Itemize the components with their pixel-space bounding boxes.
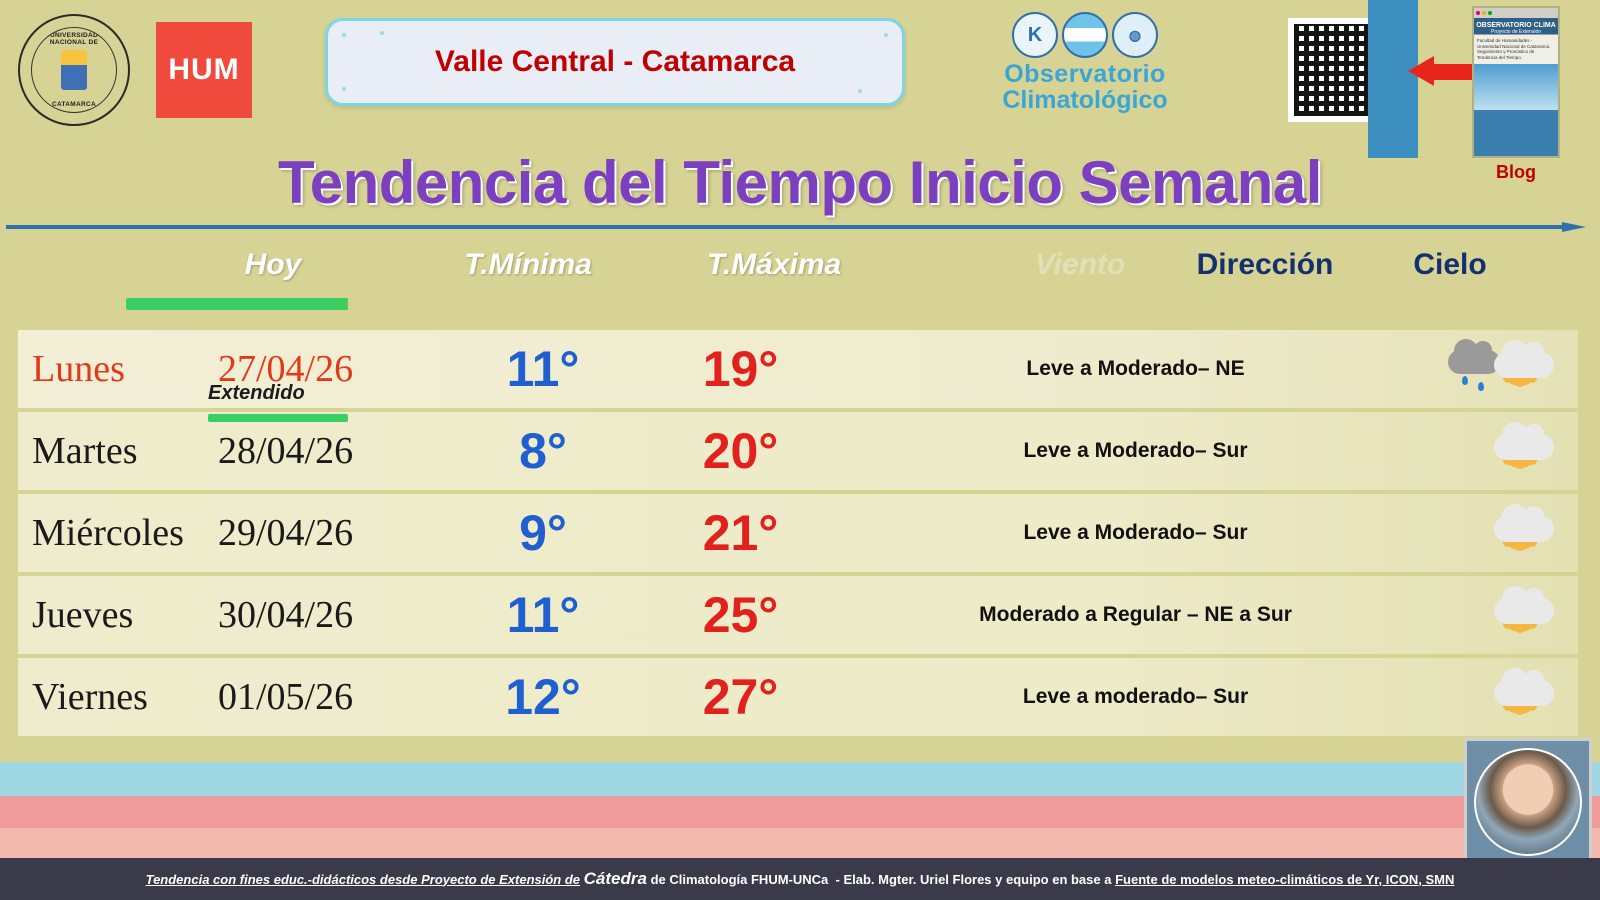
row-wind: Leve a Moderado– Sur: [843, 521, 1428, 545]
table-row: Jueves 30/04/26 11° 25° Moderado a Regul…: [18, 576, 1578, 654]
column-header-tmin: T.Mínima: [438, 248, 618, 282]
unca-logo-top-text: UNIVERSIDAD NACIONAL DE: [32, 32, 116, 46]
table-row: Viernes 01/05/26 12° 27° Leve a moderado…: [18, 658, 1578, 736]
footer-part4: - Elab. Mgter. Uriel Flores y equipo en …: [836, 872, 1112, 887]
column-header-cielo: Cielo: [1380, 248, 1520, 282]
footer-part1: Tendencia con fines educ.-didácticos des…: [146, 872, 580, 887]
row-tmin: 9°: [448, 504, 638, 562]
cloud-icon: [1494, 680, 1554, 706]
row-wind: Moderado a Regular – NE a Sur: [843, 603, 1428, 627]
rain-cloud-and-sun-behind-cloud-icon: [1448, 338, 1558, 400]
row-sky-cell: [1428, 412, 1578, 490]
rain-drop-icon: [1478, 382, 1484, 391]
map-icon: ◍: [1112, 12, 1158, 58]
extendido-label: Extendido: [208, 382, 305, 405]
row-sky-cell: [1428, 494, 1578, 572]
row-day-cell: Miércoles 29/04/26: [18, 511, 448, 555]
rain-cloud-icon: [1448, 350, 1500, 374]
region-title-text: Valle Central - Catamarca: [435, 45, 795, 79]
row-day-cell: Martes 28/04/26: [18, 429, 448, 473]
row-tmax: 25°: [638, 586, 843, 644]
row-wind: Leve a moderado– Sur: [843, 685, 1428, 709]
row-tmin: 11°: [448, 586, 638, 644]
region-title-plate: Valle Central - Catamarca: [325, 18, 905, 106]
blog-thumbnail[interactable]: OBSERVATORIO CLIMA Proyecto de Extensión…: [1472, 6, 1560, 158]
row-date: 28/04/26: [218, 429, 353, 473]
hoy-underline: [126, 298, 348, 310]
row-tmin: 11°: [448, 340, 638, 398]
avatar: [1464, 738, 1592, 866]
footer-strip-salmon: [0, 828, 1600, 858]
row-tmin: 12°: [448, 668, 638, 726]
cloud-icon: [1494, 516, 1554, 542]
page-header: UNIVERSIDAD NACIONAL DE CATAMARCA HUM Va…: [0, 0, 1600, 140]
row-tmax: 21°: [638, 504, 843, 562]
sun-behind-cloud-icon: [1448, 584, 1558, 646]
row-day-cell: Jueves 30/04/26: [18, 593, 448, 637]
unca-logo-inner: UNIVERSIDAD NACIONAL DE CATAMARCA: [31, 27, 117, 113]
unca-logo: UNIVERSIDAD NACIONAL DE CATAMARCA: [18, 14, 130, 126]
cloud-icon: [1494, 434, 1554, 460]
footer-credits: Tendencia con fines educ.-didácticos des…: [0, 858, 1600, 900]
row-day-name: Miércoles: [32, 511, 204, 555]
row-tmin: 8°: [448, 422, 638, 480]
argentina-flag-icon: [1062, 12, 1108, 58]
footer-strip-pink: [0, 796, 1600, 828]
observatory-name-line1: Observatorio: [950, 62, 1220, 87]
row-sky-cell: [1428, 576, 1578, 654]
unca-logo-bottom-text: CATAMARCA: [32, 101, 116, 108]
row-date: 01/05/26: [218, 675, 353, 719]
hum-logo: HUM: [156, 22, 252, 118]
table-row: Martes 28/04/26 8° 20° Leve a Moderado– …: [18, 412, 1578, 490]
observatory-name-line2: Climatológico: [950, 87, 1220, 113]
row-date: 30/04/26: [218, 593, 353, 637]
row-sky-cell: [1428, 658, 1578, 736]
row-sky-cell: [1428, 330, 1578, 408]
blog-thumb-body: Facultad de Humanidades - Universidad Na…: [1474, 35, 1558, 64]
extendido-underline: [208, 414, 348, 422]
sun-behind-cloud-icon: [1448, 666, 1558, 728]
cloud-icon: [1494, 352, 1554, 378]
row-day-name: Viernes: [32, 675, 204, 719]
table-row: Miércoles 29/04/26 9° 21° Leve a Moderad…: [18, 494, 1578, 572]
page-title: Tendencia del Tiempo Inicio Semanal: [0, 148, 1600, 217]
row-date: 29/04/26: [218, 511, 353, 555]
footer-part5: Fuente de modelos meteo-climáticos de Yr…: [1115, 872, 1454, 887]
observatory-logo-icons: K ◍: [950, 12, 1220, 58]
rain-drop-icon: [1462, 376, 1468, 385]
column-header-viento: Viento: [1000, 248, 1160, 282]
row-tmax: 19°: [638, 340, 843, 398]
row-day-name: Lunes: [32, 347, 204, 391]
footer-part2: Cátedra: [584, 869, 647, 889]
row-tmax: 20°: [638, 422, 843, 480]
sun-behind-cloud-icon: [1448, 420, 1558, 482]
row-wind: Leve a Moderado– NE: [843, 357, 1428, 381]
k-letter-icon: K: [1012, 12, 1058, 58]
row-day-name: Jueves: [32, 593, 204, 637]
column-header-direccion: Dirección: [1175, 248, 1355, 282]
blog-thumb-image: [1474, 64, 1558, 110]
avatar-photo: [1474, 748, 1582, 856]
column-header-tmax: T.Máxima: [684, 248, 864, 282]
footer-part3: de Climatología FHUM-UNCa: [651, 872, 829, 887]
observatory-logo: K ◍ Observatorio Climatológico: [950, 12, 1220, 113]
sun-behind-cloud-icon: [1448, 502, 1558, 564]
title-underline-arrow-icon: [6, 222, 1586, 232]
footer-strip-blue: [0, 762, 1600, 796]
blog-thumb-title: OBSERVATORIO CLIMA: [1474, 18, 1558, 29]
row-day-name: Martes: [32, 429, 204, 473]
column-header-hoy: Hoy: [208, 248, 338, 282]
torch-shield-icon: [61, 50, 87, 90]
row-tmax: 27°: [638, 668, 843, 726]
cloud-icon: [1494, 598, 1554, 624]
row-day-cell: Viernes 01/05/26: [18, 675, 448, 719]
row-wind: Leve a Moderado– Sur: [843, 439, 1428, 463]
